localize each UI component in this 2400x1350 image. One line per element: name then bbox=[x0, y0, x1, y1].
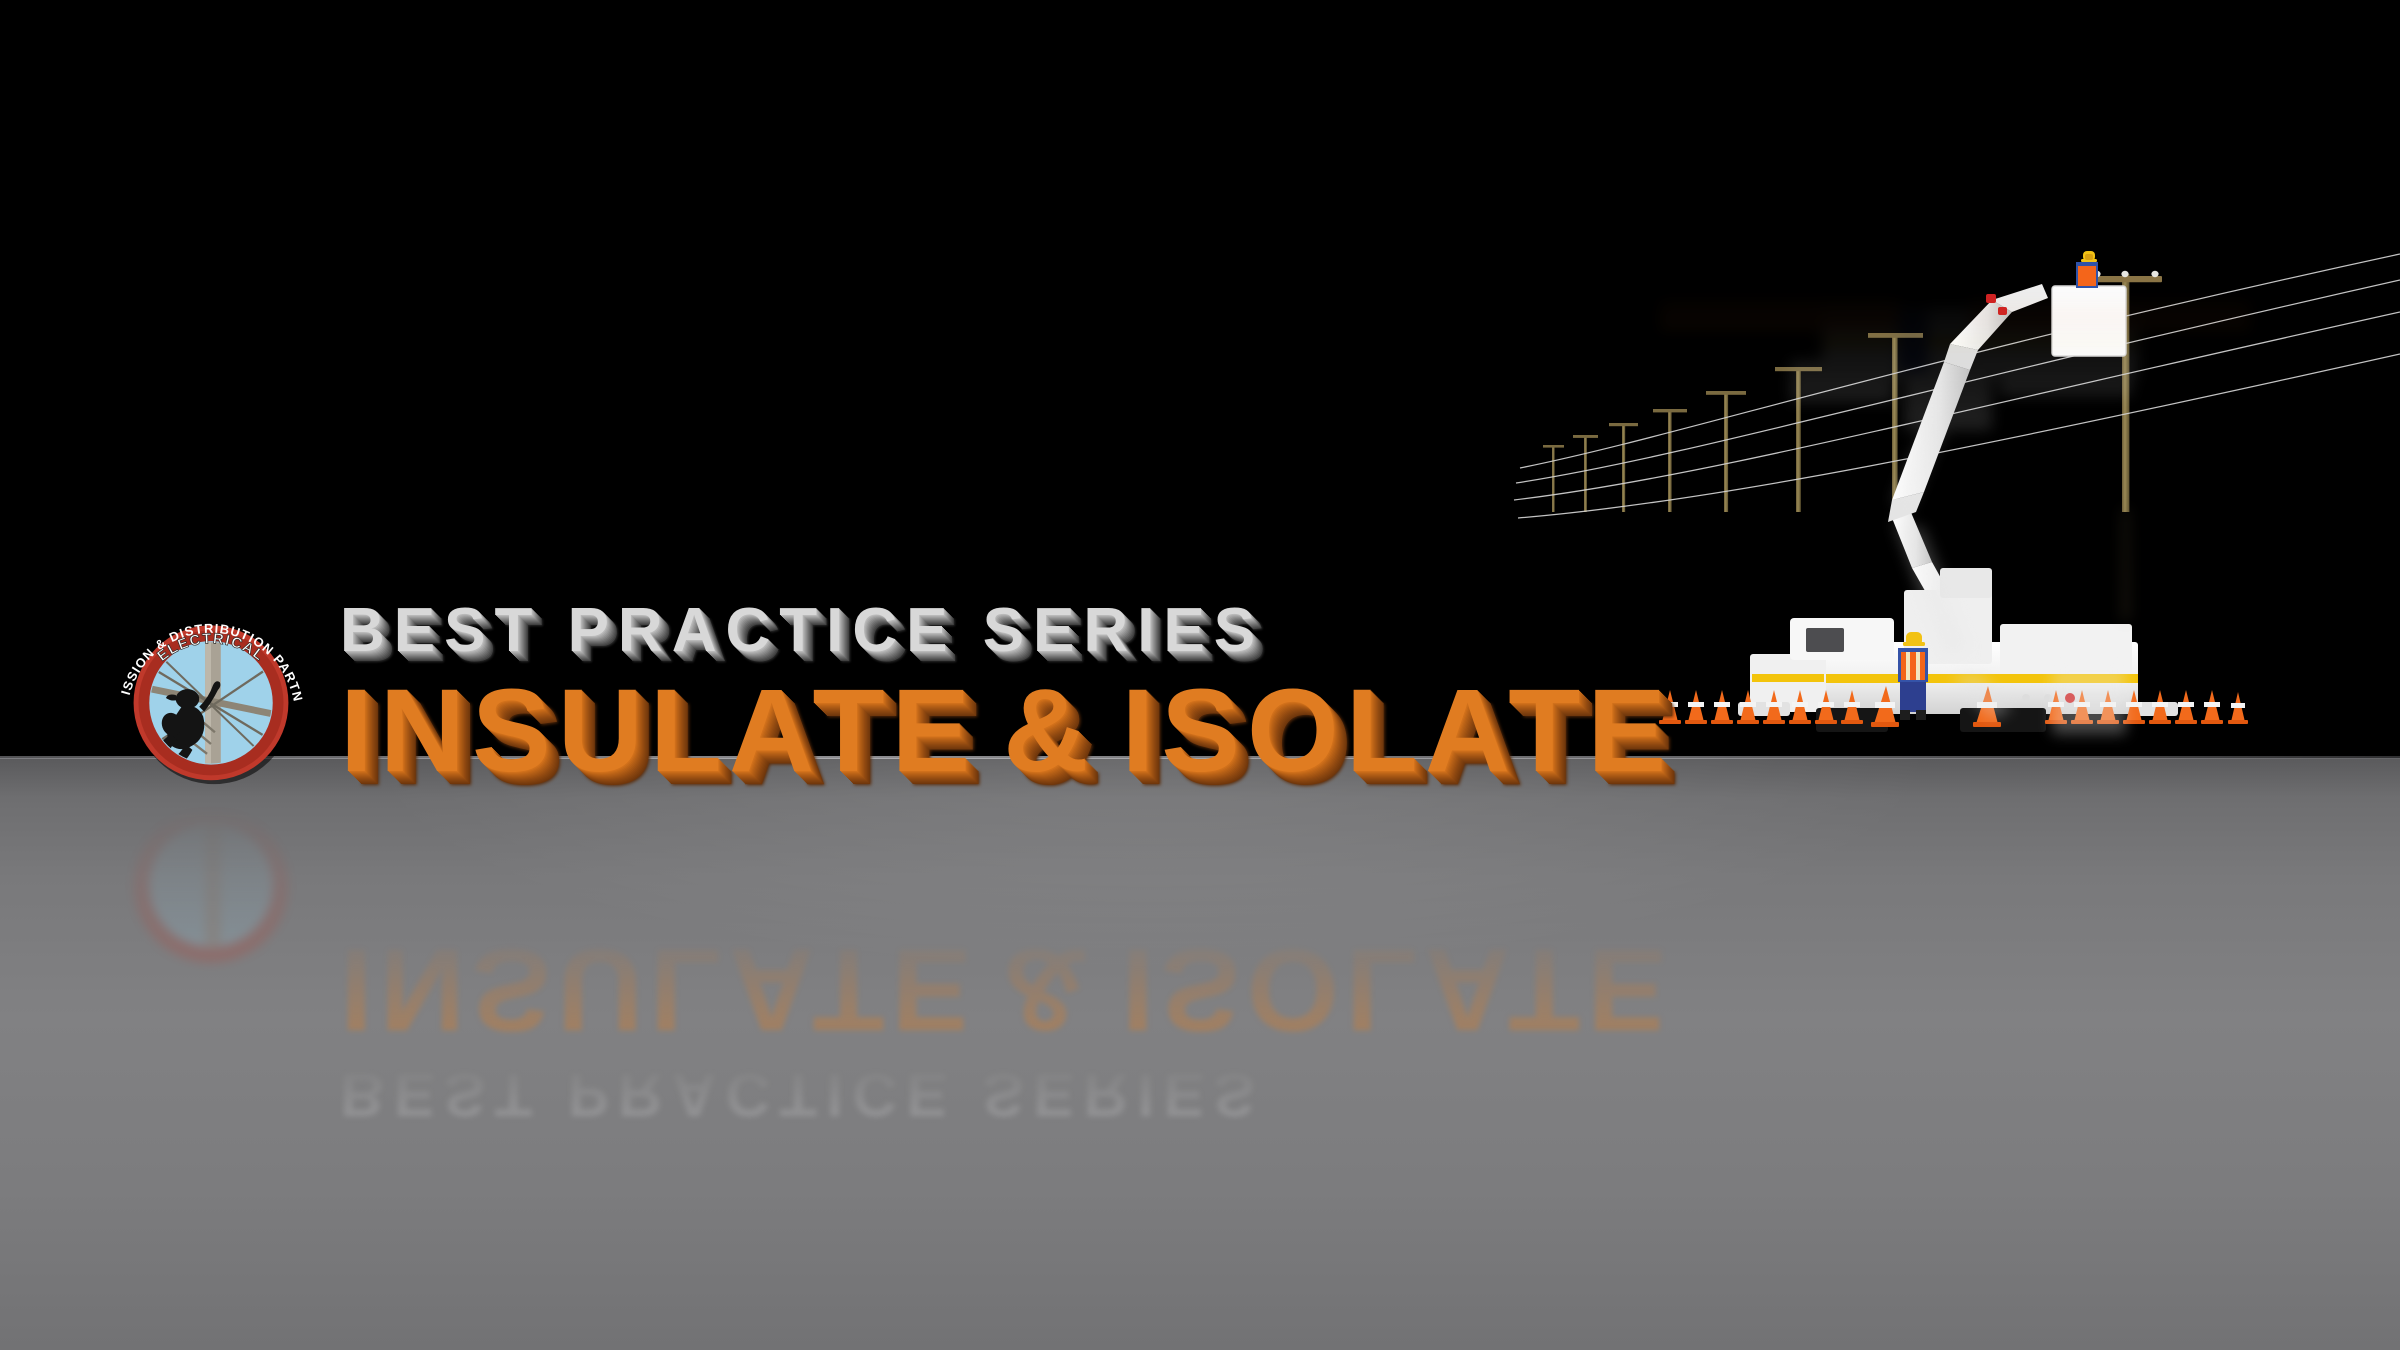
partnership-logo-reflection bbox=[113, 795, 309, 991]
floor-sheen bbox=[0, 758, 2400, 1088]
title-card-frame: TRANSMISSION & DISTRIBUTION PARTNERSHIP … bbox=[0, 0, 2400, 1350]
series-subtitle: BEST PRACTICE SERIES bbox=[340, 600, 1673, 662]
title-ampersand: & bbox=[977, 665, 1121, 797]
partnership-logo: TRANSMISSION & DISTRIBUTION PARTNERSHIP … bbox=[113, 597, 309, 793]
title-part-2: ISOLATE bbox=[1121, 665, 1673, 797]
headline-block: BEST PRACTICE SERIES INSULATE&ISOLATE bbox=[340, 600, 1673, 790]
title-part-1: INSULATE bbox=[340, 665, 977, 797]
main-title: INSULATE&ISOLATE bbox=[340, 672, 1673, 790]
